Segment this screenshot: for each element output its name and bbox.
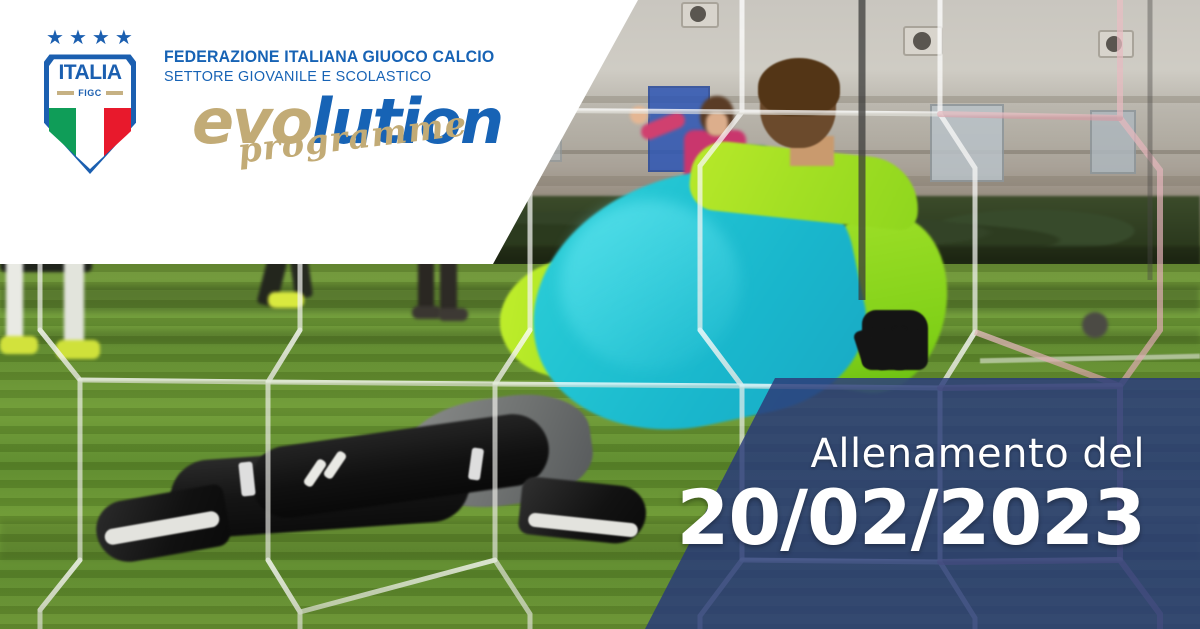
- background-player-boot: [438, 308, 468, 321]
- star-icon: ★: [115, 28, 133, 48]
- distant-player-face: [706, 112, 728, 136]
- training-title: Allenamento del 20/02/2023: [605, 432, 1145, 558]
- training-banner: ★ ★ ★ ★ ITALIA FIGC: [0, 0, 1200, 629]
- building-window: [930, 104, 1004, 182]
- background-player-boot: [0, 336, 38, 354]
- goalkeeper-glove-finger: [892, 326, 907, 370]
- flag-stripe-green: [49, 108, 76, 169]
- air-conditioner-fan: [913, 32, 931, 50]
- logo-lockup: ★ ★ ★ ★ ITALIA FIGC: [38, 28, 494, 183]
- figc-abbreviation: FIGC: [78, 88, 102, 98]
- shield-italia-text: ITALIA: [44, 61, 136, 85]
- background-player-boot: [268, 292, 304, 308]
- star-icon: ★: [92, 28, 110, 48]
- training-label: Allenamento del: [605, 432, 1145, 476]
- shield-shape: ITALIA FIGC: [44, 52, 136, 174]
- background-player-leg: [64, 250, 84, 346]
- federation-wordmark: FEDERAZIONE ITALIANA GIUOCO CALCIO SETTO…: [164, 28, 494, 183]
- shield-stars: ★ ★ ★ ★: [46, 28, 133, 48]
- background-player-boot: [56, 340, 100, 359]
- air-conditioner-fan: [690, 6, 706, 22]
- background-player-leg: [6, 250, 23, 348]
- football-ball: [1082, 312, 1108, 338]
- building-window: [1090, 110, 1136, 174]
- distant-player-hand: [630, 106, 648, 124]
- star-icon: ★: [46, 28, 64, 48]
- evolution-programme-logo: evolution programme: [164, 91, 494, 183]
- goalkeeper-jersey-highlight: [560, 200, 740, 370]
- goalkeeper-hair: [758, 58, 840, 116]
- air-conditioner-fan: [1106, 36, 1122, 52]
- italian-flag-tricolor: [49, 108, 131, 169]
- flag-stripe-red: [104, 108, 131, 169]
- flag-stripe-white: [76, 108, 103, 169]
- star-icon: ★: [69, 28, 87, 48]
- figc-dash-left: [57, 91, 74, 95]
- federation-name-line1: FEDERAZIONE ITALIANA GIUOCO CALCIO: [164, 48, 481, 67]
- figc-shield-logo: ★ ★ ★ ★ ITALIA FIGC: [38, 28, 142, 178]
- federation-name-line2: SETTORE GIOVANILE E SCOLASTICO: [164, 68, 481, 85]
- training-date: 20/02/2023: [605, 478, 1145, 558]
- figc-dash-right: [106, 91, 123, 95]
- shield-figc-row: FIGC: [44, 88, 136, 98]
